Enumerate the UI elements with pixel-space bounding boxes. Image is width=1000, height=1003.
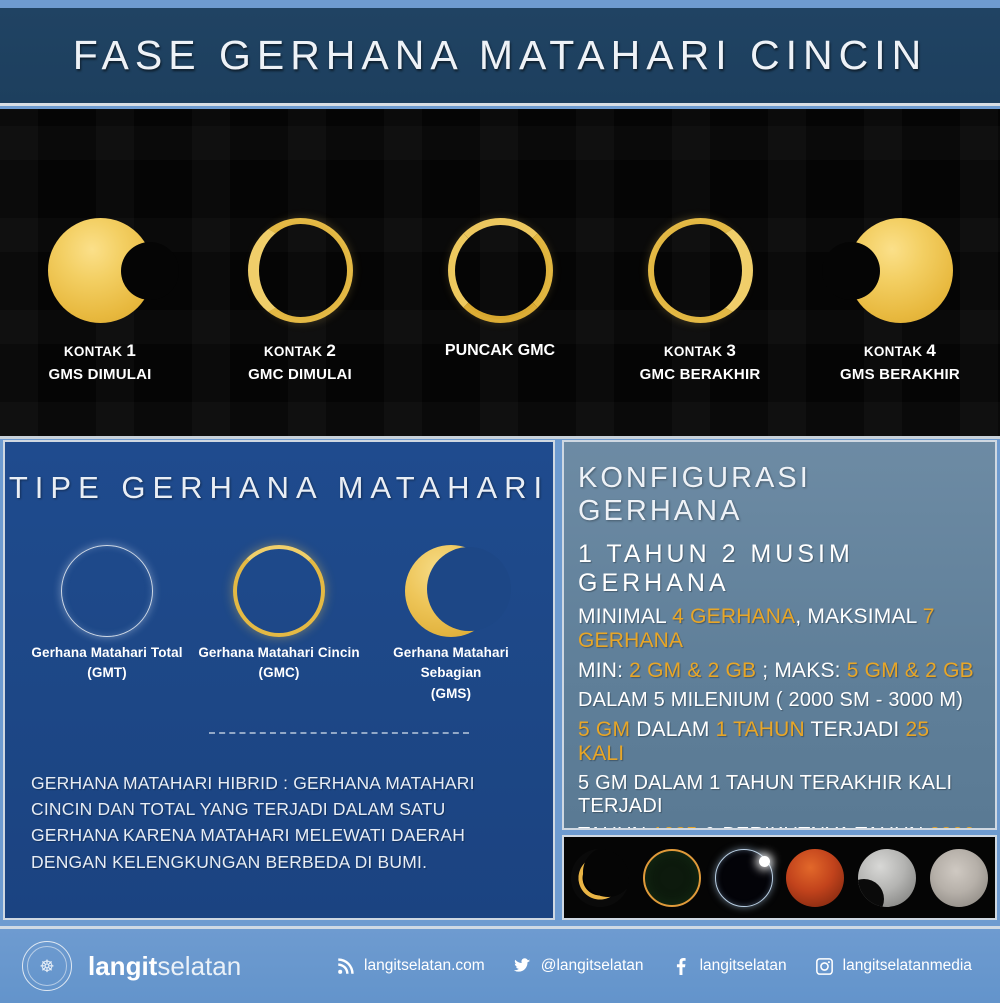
brand-name-bold: langit (88, 951, 157, 981)
social-link-instagram[interactable]: langitselatanmedia (815, 957, 972, 976)
config-line5-part-c: 1 TAHUN (716, 718, 805, 741)
phase-art-ring-even (408, 205, 593, 335)
phase-4-kontak-label: KONTAK (664, 344, 723, 359)
instagram-icon (815, 957, 834, 976)
phase-item-3: PUNCAK GMC (408, 205, 593, 362)
config-panel-title: KONFIGURASI GERHANA (578, 462, 981, 528)
config-line-min-maks: MIN: 2 GM & 2 GB ; MAKS: 5 GM & 2 GB (578, 659, 981, 683)
phase-1-kontak-number: 1 (126, 341, 136, 360)
brand-block[interactable]: ☸ langitselatan (22, 941, 322, 991)
header-banner: FASE GERHANA MATAHARI CINCIN (0, 8, 1000, 106)
type-item-gms: Gerhana Matahari Sebagian (GMS) (369, 538, 534, 704)
config-line-seasons: 1 TAHUN 2 MUSIM GERHANA (578, 540, 981, 598)
type-item-gmt: Gerhana Matahari Total (GMT) (25, 538, 190, 684)
langitselatan-seal-logo-icon: ☸ (22, 941, 72, 991)
infographic-page: FASE GERHANA MATAHARI CINCIN KONTAK 1 GM… (0, 0, 1000, 1000)
twitter-label: @langitselatan (541, 957, 644, 975)
type-art-gold-crescent (369, 538, 534, 643)
config-line-last-occurrence: 5 GM DALAM 1 TAHUN TERAKHIR KALI TERJADI (578, 772, 981, 818)
eclipse-photo-strip (562, 835, 997, 920)
footer-bar: ☸ langitselatan langitselatan.com @langi… (0, 926, 1000, 1003)
config-line3-part-b: 2 GM & 2 GB (629, 659, 756, 682)
type-gmt-name: Gerhana Matahari Total (25, 643, 190, 663)
config-line-5gm-frequency: 5 GM DALAM 1 TAHUN TERJADI 25 KALI (578, 718, 981, 766)
thumb-full-moon (930, 849, 988, 907)
phase-2-kontak-number: 2 (326, 341, 336, 360)
type-gmc-name: Gerhana Matahari Cincin (197, 643, 362, 663)
seal-glyph: ☸ (39, 958, 54, 975)
thumb-partial-lunar-eclipse (858, 849, 916, 907)
config-line7-part-c: & BERIKUTNYA TAHUN (697, 824, 929, 830)
phase-3-name: PUNCAK GMC (408, 339, 593, 362)
phase-2-name: GMC DIMULAI (208, 364, 393, 386)
phase-art-ring-thick-right (608, 205, 793, 335)
phase-art-sun-bite-left (808, 205, 993, 335)
phase-item-1: KONTAK 1 GMS DIMULAI (8, 205, 193, 385)
social-link-facebook[interactable]: langitselatan (672, 957, 787, 976)
facebook-label: langitselatan (700, 957, 787, 975)
phase-2-kontak-label: KONTAK (264, 344, 323, 359)
config-line5-part-a: 5 GM (578, 718, 630, 741)
hybrid-eclipse-text: GERHANA MATAHARI HIBRID : GERHANA MATAHA… (31, 770, 527, 875)
social-link-website[interactable]: langitselatan.com (336, 957, 485, 976)
config-line-milenium: DALAM 5 MILENIUM ( 2000 SM - 3000 M) (578, 689, 981, 712)
phase-item-2: KONTAK 2 GMC DIMULAI (208, 205, 393, 385)
instagram-label: langitselatanmedia (843, 957, 972, 975)
config-line7-part-b: 1935 (652, 824, 697, 830)
phase-5-kontak-number: 4 (926, 341, 936, 360)
config-line-minmax-eclipses: MINIMAL 4 GERHANA, MAKSIMAL 7 GERHANA (578, 605, 981, 653)
config-line2-part-a: MINIMAL (578, 605, 672, 628)
config-line5-part-d: TERJADI (805, 718, 906, 741)
config-line2-part-c: , MAKSIMAL (795, 605, 922, 628)
website-label: langitselatan.com (364, 957, 485, 975)
facebook-icon (672, 957, 691, 976)
phase-5-kontak-label: KONTAK (864, 344, 923, 359)
eclipse-config-panel: KONFIGURASI GERHANA 1 TAHUN 2 MUSIM GERH… (562, 440, 997, 830)
thumb-annular-solar-ring (643, 849, 701, 907)
type-art-gold-ring (197, 538, 362, 643)
thumb-partial-solar-crescent (571, 849, 629, 907)
social-links: langitselatan.com @langitselatan langits… (322, 957, 1000, 976)
rss-icon (336, 957, 355, 976)
eclipse-types-panel: TIPE GERHANA MATAHARI Gerhana Matahari T… (3, 440, 555, 920)
phase-1-kontak-label: KONTAK (64, 344, 123, 359)
config-line3-part-a: MIN: (578, 659, 629, 682)
social-link-twitter[interactable]: @langitselatan (513, 957, 644, 976)
phase-art-sun-bite-right (8, 205, 193, 335)
config-line3-part-d: 5 GM & 2 GB (847, 659, 974, 682)
config-line-years: TAHUN 1935 & BERIKUTNYA TAHUN 2206 (578, 824, 981, 830)
phase-1-name: GMS DIMULAI (8, 364, 193, 386)
config-line5-part-b: DALAM (630, 718, 715, 741)
type-gmt-abbr: (GMT) (25, 663, 190, 683)
phase-4-kontak-number: 3 (726, 341, 736, 360)
page-title: FASE GERHANA MATAHARI CINCIN (73, 32, 927, 79)
thumb-total-solar-diamond-ring (715, 849, 773, 907)
phase-5-name: GMS BERAKHIR (808, 364, 993, 386)
phase-item-4: KONTAK 3 GMC BERAKHIR (608, 205, 793, 385)
type-gmc-abbr: (GMC) (197, 663, 362, 683)
brand-wordmark: langitselatan (88, 951, 241, 982)
config-line7-part-a: TAHUN (578, 824, 652, 830)
type-gms-abbr: (GMS) (369, 684, 534, 704)
type-art-corona-circle (25, 538, 190, 643)
types-panel-divider (209, 732, 469, 734)
phase-4-name: GMC BERAKHIR (608, 364, 793, 386)
config-line2-part-b: 4 GERHANA (672, 605, 795, 628)
eclipse-phases-section: KONTAK 1 GMS DIMULAI KONTAK 2 GMC DIMULA… (0, 109, 1000, 439)
twitter-icon (513, 957, 532, 976)
brand-name-light: selatan (157, 951, 241, 981)
type-gms-name: Gerhana Matahari Sebagian (369, 643, 534, 684)
phase-art-ring-thick-left (208, 205, 393, 335)
thumb-total-lunar-blood-moon (786, 849, 844, 907)
phase-item-5: KONTAK 4 GMS BERAKHIR (808, 205, 993, 385)
config-line7-part-d: 2206 (929, 824, 974, 830)
type-item-gmc: Gerhana Matahari Cincin (GMC) (197, 538, 362, 684)
types-panel-title: TIPE GERHANA MATAHARI (5, 442, 553, 506)
config-line3-part-c: ; MAKS: (756, 659, 847, 682)
